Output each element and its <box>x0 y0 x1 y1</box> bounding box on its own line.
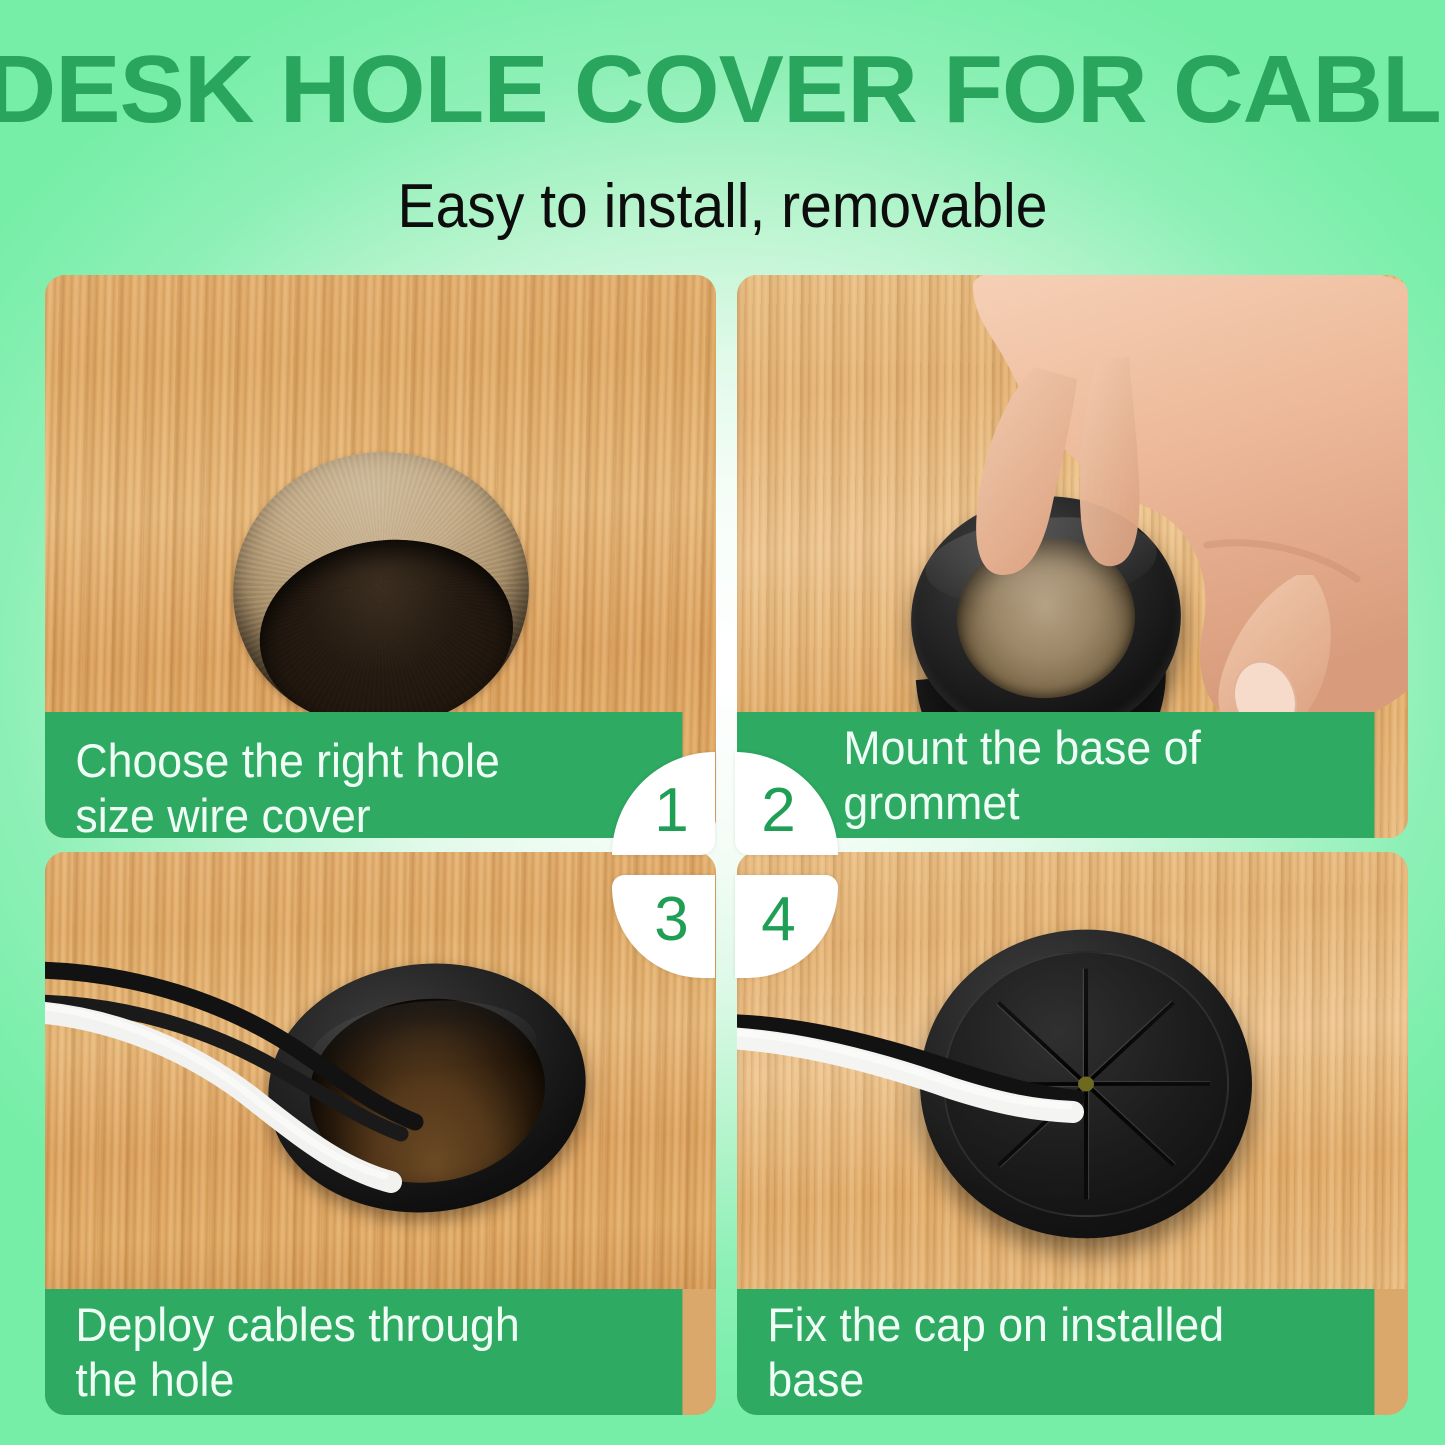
cap-spoke-icon <box>1084 968 1088 1083</box>
step-panel-1[interactable]: Choose the right hole size wire cover <box>45 275 716 838</box>
step-2-caption: Mount the base of grommet <box>737 712 1374 838</box>
cap-spoke-icon <box>1084 1001 1175 1085</box>
cap-center-hub-icon <box>1078 1076 1094 1091</box>
step-3-photo <box>45 852 716 1289</box>
grommet-cap-icon <box>920 929 1252 1238</box>
cap-spoke-icon <box>997 1001 1088 1085</box>
step-2-caption-line1: Mount the base of grommet <box>843 721 1349 831</box>
cap-spoke-icon <box>1086 1082 1210 1086</box>
step-3-caption: Deploy cables through the hole <box>45 1289 682 1415</box>
step-3-caption-line1: Deploy cables through the hole <box>75 1298 576 1408</box>
step-1-caption: Choose the right hole size wire cover <box>45 712 682 838</box>
step-panel-4[interactable]: Fix the cap on installed base <box>737 852 1408 1415</box>
cap-inner-ring-icon <box>943 951 1229 1217</box>
step-4-photo <box>737 852 1408 1289</box>
cap-spoke-icon <box>962 1082 1086 1086</box>
product-infographic-poster: DESK HOLE COVER FOR CABLES Easy to insta… <box>0 0 1445 1445</box>
step-4-caption: Fix the cap on installed base <box>737 1289 1374 1415</box>
step-1-caption-line1: Choose the right hole <box>75 734 576 789</box>
cap-spoke-icon <box>1084 1084 1088 1199</box>
step-panel-3[interactable]: Deploy cables through the hole <box>45 852 716 1415</box>
page-title: DESK HOLE COVER FOR CABLES <box>0 42 1445 138</box>
step-panel-2[interactable]: Mount the base of grommet <box>737 275 1408 838</box>
steps-grid: Choose the right hole size wire cover <box>45 275 1408 1415</box>
cap-spoke-icon <box>1084 1082 1175 1166</box>
step-1-caption-line2: size wire cover <box>75 789 576 838</box>
step-4-caption-line1: Fix the cap on installed base <box>767 1298 1268 1408</box>
cap-spoke-icon <box>997 1082 1088 1166</box>
page-subtitle: Easy to install, removable <box>58 176 1387 238</box>
